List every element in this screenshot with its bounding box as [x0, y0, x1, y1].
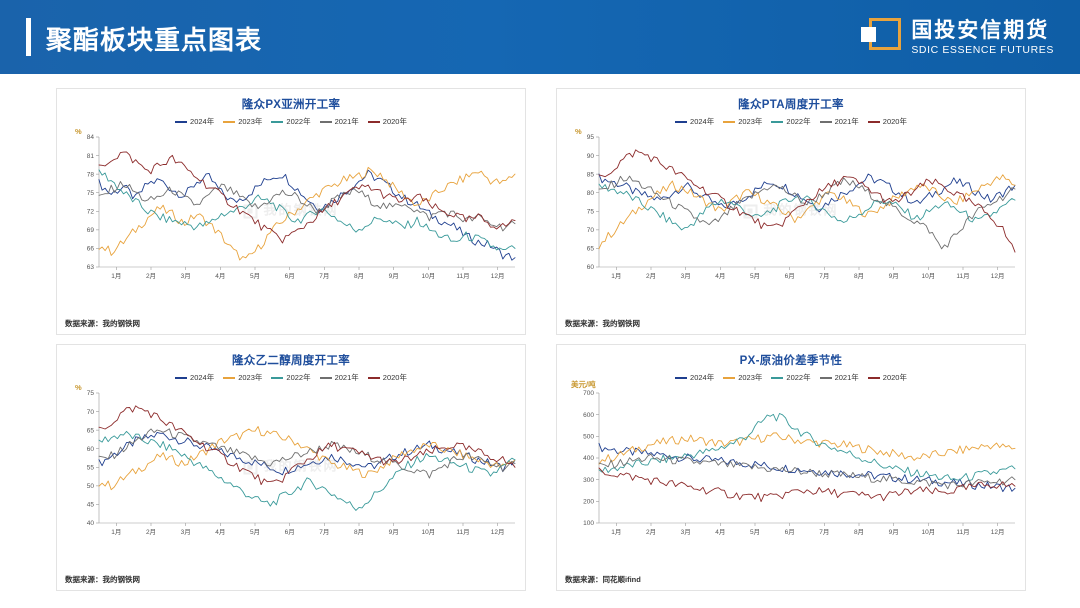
chart-legend: 2024年2023年2022年2021年2020年: [57, 116, 525, 127]
legend-label: 2021年: [335, 372, 359, 383]
svg-text:100: 100: [583, 520, 594, 527]
legend-swatch-icon: [175, 377, 187, 379]
svg-text:81: 81: [87, 153, 95, 160]
series-line: [99, 152, 515, 243]
legend-swatch-icon: [868, 121, 880, 123]
legend-item: 2020年: [368, 372, 407, 383]
svg-text:4月: 4月: [215, 272, 225, 280]
svg-text:84: 84: [87, 134, 95, 141]
svg-text:8月: 8月: [354, 528, 364, 536]
svg-text:700: 700: [583, 390, 594, 397]
legend-item: 2020年: [868, 116, 907, 127]
series-line: [99, 429, 515, 478]
legend-label: 2022年: [786, 116, 810, 127]
svg-text:2月: 2月: [646, 272, 656, 280]
legend-item: 2024年: [675, 372, 714, 383]
chart-legend: 2024年2023年2022年2021年2020年: [57, 372, 525, 383]
svg-text:8月: 8月: [854, 272, 864, 280]
legend-label: 2023年: [738, 116, 762, 127]
svg-text:11月: 11月: [456, 272, 469, 280]
chart-source: 数据来源：我的钢铁网: [65, 318, 140, 329]
svg-text:80: 80: [587, 190, 595, 197]
legend-item: 2022年: [771, 372, 810, 383]
svg-text:75: 75: [87, 390, 95, 397]
legend-item: 2022年: [271, 116, 310, 127]
y-axis-unit: %: [75, 383, 82, 392]
legend-label: 2023年: [738, 372, 762, 383]
svg-text:7月: 7月: [819, 272, 829, 280]
series-line: [599, 174, 1015, 212]
chart-plot-area: % 40455055606570751月2月3月4月5月6月7月8月9月10月1…: [57, 385, 525, 545]
y-axis-unit: %: [75, 127, 82, 136]
svg-text:69: 69: [87, 227, 95, 234]
chart-title: 隆众PX亚洲开工率: [57, 96, 525, 112]
chart-source: 数据来源：同花顺ifind: [565, 574, 641, 585]
chart-plot-area: % 60657075808590951月2月3月4月5月6月7月8月9月10月1…: [557, 129, 1025, 289]
legend-label: 2022年: [786, 372, 810, 383]
svg-text:4月: 4月: [715, 528, 725, 536]
svg-text:6月: 6月: [285, 528, 295, 536]
svg-text:10月: 10月: [421, 272, 435, 280]
legend-label: 2020年: [883, 372, 907, 383]
svg-text:1月: 1月: [111, 272, 121, 280]
legend-item: 2023年: [723, 116, 762, 127]
svg-text:9月: 9月: [389, 528, 399, 536]
svg-text:2月: 2月: [146, 272, 156, 280]
chart-legend: 2024年2023年2022年2021年2020年: [557, 116, 1025, 127]
legend-label: 2022年: [286, 372, 310, 383]
legend-label: 2020年: [383, 116, 407, 127]
legend-item: 2022年: [271, 372, 310, 383]
svg-text:40: 40: [87, 520, 95, 527]
svg-text:55: 55: [87, 464, 95, 471]
legend-label: 2021年: [335, 116, 359, 127]
legend-swatch-icon: [675, 377, 687, 379]
legend-label: 2021年: [835, 372, 859, 383]
legend-label: 2024年: [190, 116, 214, 127]
chart-panel-px-asia: 隆众PX亚洲开工率 2024年2023年2022年2021年2020年 % 63…: [56, 88, 526, 335]
chart-panel-pta-weekly: 隆众PTA周度开工率 2024年2023年2022年2021年2020年 % 6…: [556, 88, 1026, 335]
svg-text:50: 50: [87, 483, 95, 490]
svg-text:12月: 12月: [991, 528, 1005, 536]
legend-item: 2024年: [175, 372, 214, 383]
legend-swatch-icon: [271, 121, 283, 123]
series-line: [599, 414, 1015, 481]
legend-item: 2021年: [820, 372, 859, 383]
legend-label: 2023年: [238, 372, 262, 383]
svg-text:4月: 4月: [715, 272, 725, 280]
legend-swatch-icon: [368, 121, 380, 123]
svg-text:4月: 4月: [215, 528, 225, 536]
svg-text:7月: 7月: [819, 528, 829, 536]
svg-text:5月: 5月: [750, 528, 760, 536]
svg-text:65: 65: [587, 246, 595, 253]
svg-text:60: 60: [587, 264, 595, 271]
svg-text:7月: 7月: [319, 528, 329, 536]
svg-text:75: 75: [87, 190, 95, 197]
legend-label: 2024年: [690, 116, 714, 127]
legend-item: 2024年: [175, 116, 214, 127]
series-line: [99, 170, 515, 250]
legend-item: 2022年: [771, 116, 810, 127]
chart-source: 数据来源：我的钢铁网: [65, 574, 140, 585]
legend-label: 2024年: [190, 372, 214, 383]
legend-label: 2021年: [835, 116, 859, 127]
svg-text:12月: 12月: [991, 272, 1005, 280]
chart-panel-px-crude-spread: PX-原油价差季节性 2024年2023年2022年2021年2020年 美元/…: [556, 344, 1026, 591]
legend-swatch-icon: [820, 377, 832, 379]
svg-text:7月: 7月: [319, 272, 329, 280]
svg-text:95: 95: [587, 134, 595, 141]
svg-text:70: 70: [87, 409, 95, 416]
svg-text:12月: 12月: [491, 272, 505, 280]
chart-panel-meg-weekly: 隆众乙二醇周度开工率 2024年2023年2022年2021年2020年 % 4…: [56, 344, 526, 591]
svg-text:9月: 9月: [889, 528, 899, 536]
svg-text:70: 70: [587, 227, 595, 234]
svg-text:9月: 9月: [889, 272, 899, 280]
logo-text-cn: 国投安信期货: [911, 20, 1054, 42]
svg-text:300: 300: [583, 477, 594, 484]
svg-text:10月: 10月: [921, 272, 935, 280]
legend-item: 2023年: [223, 116, 262, 127]
svg-text:200: 200: [583, 499, 594, 506]
svg-text:8月: 8月: [354, 272, 364, 280]
svg-text:6月: 6月: [785, 528, 795, 536]
legend-item: 2023年: [723, 372, 762, 383]
svg-text:500: 500: [583, 434, 594, 441]
page-header: 聚酯板块重点图表 国投安信期货 SDIC ESSENCE FUTURES: [0, 0, 1080, 74]
legend-swatch-icon: [223, 377, 235, 379]
svg-text:3月: 3月: [181, 272, 191, 280]
y-axis-unit: %: [575, 127, 582, 136]
legend-label: 2020年: [383, 372, 407, 383]
title-accent-bar: [26, 18, 31, 56]
chart-source: 数据来源：我的钢铁网: [565, 318, 640, 329]
svg-text:10月: 10月: [421, 528, 435, 536]
legend-label: 2020年: [883, 116, 907, 127]
series-line: [99, 170, 515, 260]
svg-text:66: 66: [87, 246, 95, 253]
svg-text:600: 600: [583, 412, 594, 419]
chart-title: PX-原油价差季节性: [557, 352, 1025, 368]
legend-swatch-icon: [175, 121, 187, 123]
svg-text:3月: 3月: [181, 528, 191, 536]
logo-text-en: SDIC ESSENCE FUTURES: [911, 45, 1054, 56]
svg-text:60: 60: [87, 446, 95, 453]
legend-item: 2020年: [368, 116, 407, 127]
legend-swatch-icon: [771, 121, 783, 123]
svg-text:6月: 6月: [285, 272, 295, 280]
svg-text:78: 78: [87, 171, 95, 178]
legend-swatch-icon: [223, 121, 235, 123]
svg-text:10月: 10月: [921, 528, 935, 536]
svg-text:63: 63: [87, 264, 95, 271]
chart-plot-area: 美元/吨 1002003004005006007001月2月3月4月5月6月7月…: [557, 385, 1025, 545]
chart-title: 隆众PTA周度开工率: [557, 96, 1025, 112]
svg-text:65: 65: [87, 427, 95, 434]
svg-text:400: 400: [583, 455, 594, 462]
svg-text:5月: 5月: [250, 528, 260, 536]
svg-text:72: 72: [87, 208, 95, 215]
svg-text:1月: 1月: [611, 272, 621, 280]
page-title: 聚酯板块重点图表: [46, 20, 262, 57]
y-axis-unit: 美元/吨: [571, 381, 601, 389]
svg-text:11月: 11月: [956, 528, 969, 536]
legend-item: 2021年: [820, 116, 859, 127]
legend-swatch-icon: [271, 377, 283, 379]
svg-text:5月: 5月: [750, 272, 760, 280]
svg-text:11月: 11月: [956, 272, 969, 280]
svg-text:3月: 3月: [681, 528, 691, 536]
svg-text:2月: 2月: [146, 528, 156, 536]
legend-swatch-icon: [320, 121, 332, 123]
legend-swatch-icon: [675, 121, 687, 123]
legend-swatch-icon: [868, 377, 880, 379]
svg-text:75: 75: [587, 208, 595, 215]
legend-label: 2024年: [690, 372, 714, 383]
svg-text:6月: 6月: [785, 272, 795, 280]
svg-text:11月: 11月: [456, 528, 469, 536]
series-line: [599, 175, 1015, 249]
logo-mark-icon: [861, 18, 901, 58]
svg-text:9月: 9月: [389, 272, 399, 280]
legend-swatch-icon: [368, 377, 380, 379]
svg-text:12月: 12月: [491, 528, 505, 536]
svg-text:2月: 2月: [646, 528, 656, 536]
legend-item: 2021年: [320, 372, 359, 383]
legend-swatch-icon: [820, 121, 832, 123]
svg-text:1月: 1月: [111, 528, 121, 536]
legend-item: 2021年: [320, 116, 359, 127]
series-line: [599, 176, 1015, 249]
chart-plot-area: % 63666972757881841月2月3月4月5月6月7月8月9月10月1…: [57, 129, 525, 289]
svg-text:90: 90: [587, 153, 595, 160]
legend-label: 2022年: [286, 116, 310, 127]
svg-text:8月: 8月: [854, 528, 864, 536]
legend-swatch-icon: [723, 121, 735, 123]
svg-text:85: 85: [587, 171, 595, 178]
svg-text:5月: 5月: [250, 272, 260, 280]
legend-item: 2023年: [223, 372, 262, 383]
legend-item: 2024年: [675, 116, 714, 127]
legend-item: 2020年: [868, 372, 907, 383]
legend-label: 2023年: [238, 116, 262, 127]
legend-swatch-icon: [771, 377, 783, 379]
legend-swatch-icon: [320, 377, 332, 379]
svg-text:45: 45: [87, 502, 95, 509]
company-logo: 国投安信期货 SDIC ESSENCE FUTURES: [861, 16, 1054, 60]
chart-legend: 2024年2023年2022年2021年2020年: [557, 372, 1025, 383]
chart-title: 隆众乙二醇周度开工率: [57, 352, 525, 368]
series-line: [99, 431, 515, 510]
svg-text:1月: 1月: [611, 528, 621, 536]
svg-text:3月: 3月: [681, 272, 691, 280]
legend-swatch-icon: [723, 377, 735, 379]
